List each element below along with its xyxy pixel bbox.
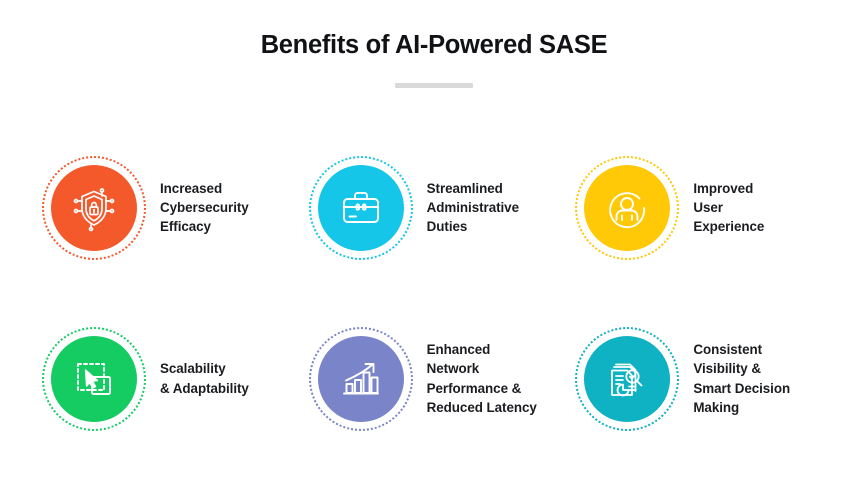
benefit-item-scalability-adaptability: Scalability & Adaptability xyxy=(42,293,309,464)
benefit-item-administrative-duties: Streamlined Administrative Duties xyxy=(309,122,576,293)
benefit-label: Streamlined Administrative Duties xyxy=(427,179,519,236)
benefit-item-user-experience: Improved User Experience xyxy=(575,122,842,293)
benefit-badge xyxy=(42,156,146,260)
benefit-badge xyxy=(42,327,146,431)
benefit-badge xyxy=(575,327,679,431)
benefit-label: Enhanced Network Performance & Reduced L… xyxy=(427,340,537,416)
resize-scale-cursor-icon xyxy=(70,355,118,403)
benefits-grid: Increased Cybersecurity Efficacy xyxy=(42,122,842,464)
briefcase-icon xyxy=(337,184,385,232)
benefit-badge xyxy=(575,156,679,260)
benefit-item-visibility-decision-making: Consistent Visibility & Smart Decision M… xyxy=(575,293,842,464)
growth-bar-chart-arrow-icon xyxy=(337,355,385,403)
benefit-label: Improved User Experience xyxy=(693,179,764,236)
user-avatar-circle-icon xyxy=(603,184,651,232)
benefit-item-cybersecurity-efficacy: Increased Cybersecurity Efficacy xyxy=(42,122,309,293)
benefit-badge xyxy=(309,327,413,431)
benefit-badge xyxy=(309,156,413,260)
title-block: Benefits of AI-Powered SASE xyxy=(0,30,868,88)
benefit-item-network-performance: Enhanced Network Performance & Reduced L… xyxy=(309,293,576,464)
benefit-label: Scalability & Adaptability xyxy=(160,359,249,397)
title-underline-rule xyxy=(395,83,473,88)
infographic-page: Benefits of AI-Powered SASE xyxy=(0,0,868,488)
report-magnifier-check-icon xyxy=(603,355,651,403)
shield-lock-circuit-icon xyxy=(70,184,118,232)
page-title: Benefits of AI-Powered SASE xyxy=(0,30,868,61)
benefit-label: Consistent Visibility & Smart Decision M… xyxy=(693,340,790,416)
benefit-label: Increased Cybersecurity Efficacy xyxy=(160,179,249,236)
